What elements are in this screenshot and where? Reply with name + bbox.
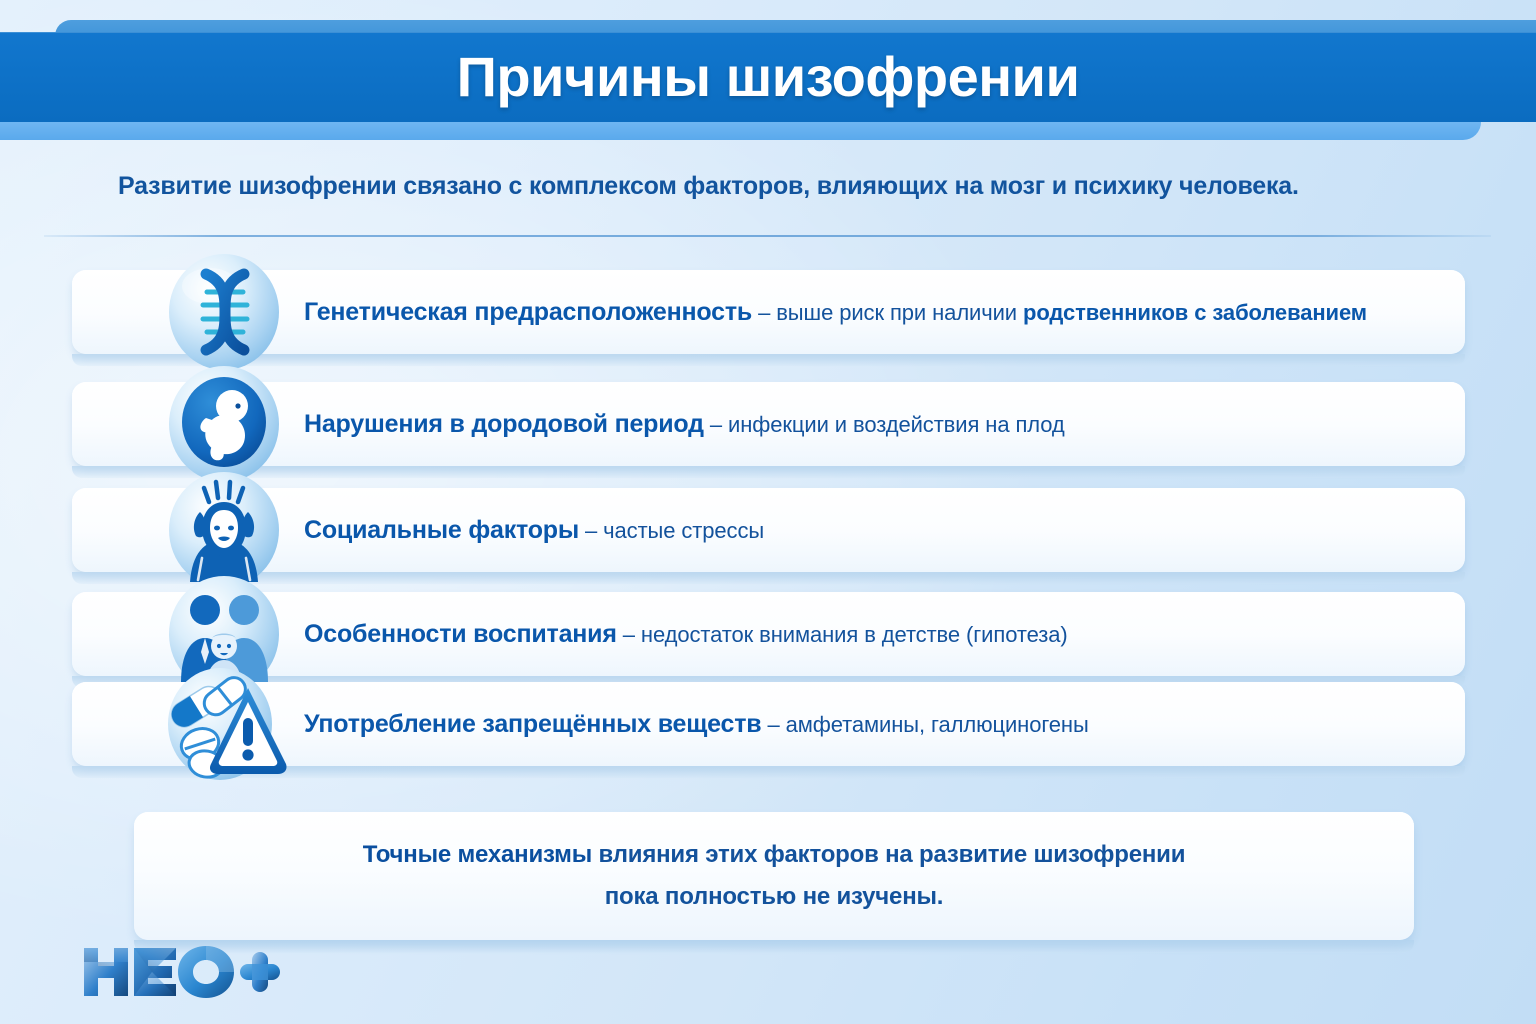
factor-lead: Социальные факторы [304, 516, 579, 544]
infographic-root: Причины шизофрении Развитие шизофрении с… [0, 0, 1536, 1024]
factor-lead: Нарушения в дородовой период [304, 410, 704, 438]
factor-rest-before: – выше риск при наличии [752, 300, 1023, 325]
factor-rest-before: – недостаток внимания в детстве (гипотез… [617, 622, 1068, 647]
factor-text: Генетическая предрасположенность – выше … [304, 270, 1367, 354]
factor-lead: Употребление запрещённых веществ [304, 710, 761, 738]
factor-lead: Генетическая предрасположенность [304, 298, 752, 326]
factor-lead: Особенности воспитания [304, 620, 617, 648]
factor-rest-bold: родственников с заболеванием [1023, 300, 1367, 325]
factor-text: Употребление запрещённых веществ – амфет… [304, 682, 1089, 766]
conclusion-line-1: Точные механизмы влияния этих факторов н… [363, 841, 1186, 869]
factor-row-genetic[interactable]: Генетическая предрасположенность – выше … [72, 270, 1465, 354]
factor-row-substances[interactable]: Употребление запрещённых веществ – амфет… [72, 682, 1465, 766]
factor-rest-before: – амфетамины, галлюциногены [761, 712, 1088, 737]
conclusion-text: Точные механизмы влияния этих факторов н… [134, 812, 1414, 940]
factor-row-social[interactable]: Социальные факторы – частые стрессы [72, 488, 1465, 572]
pills-warning-icon [160, 660, 288, 788]
conclusion-line-1-rest: влияния этих факторов на развитие шизофр… [592, 841, 1185, 868]
conclusion-strong: Точные механизмы [363, 841, 592, 868]
factor-text: Социальные факторы – частые стрессы [304, 488, 764, 572]
neo-plus-logo[interactable] [82, 940, 282, 1004]
conclusion-line-2: пока полностью не изучены. [605, 883, 944, 911]
conclusion-box: Точные механизмы влияния этих факторов н… [134, 812, 1414, 940]
factor-text: Особенности воспитания – недостаток вним… [304, 592, 1068, 676]
factor-text: Нарушения в дородовой период – инфекции … [304, 382, 1065, 466]
dna-icon [160, 248, 288, 376]
factor-rest-before: – частые стрессы [579, 518, 764, 543]
conclusion-shelf [134, 940, 1414, 953]
factor-rest-before: – инфекции и воздействия на плод [704, 412, 1065, 437]
factor-row-prenatal[interactable]: Нарушения в дородовой период – инфекции … [72, 382, 1465, 466]
